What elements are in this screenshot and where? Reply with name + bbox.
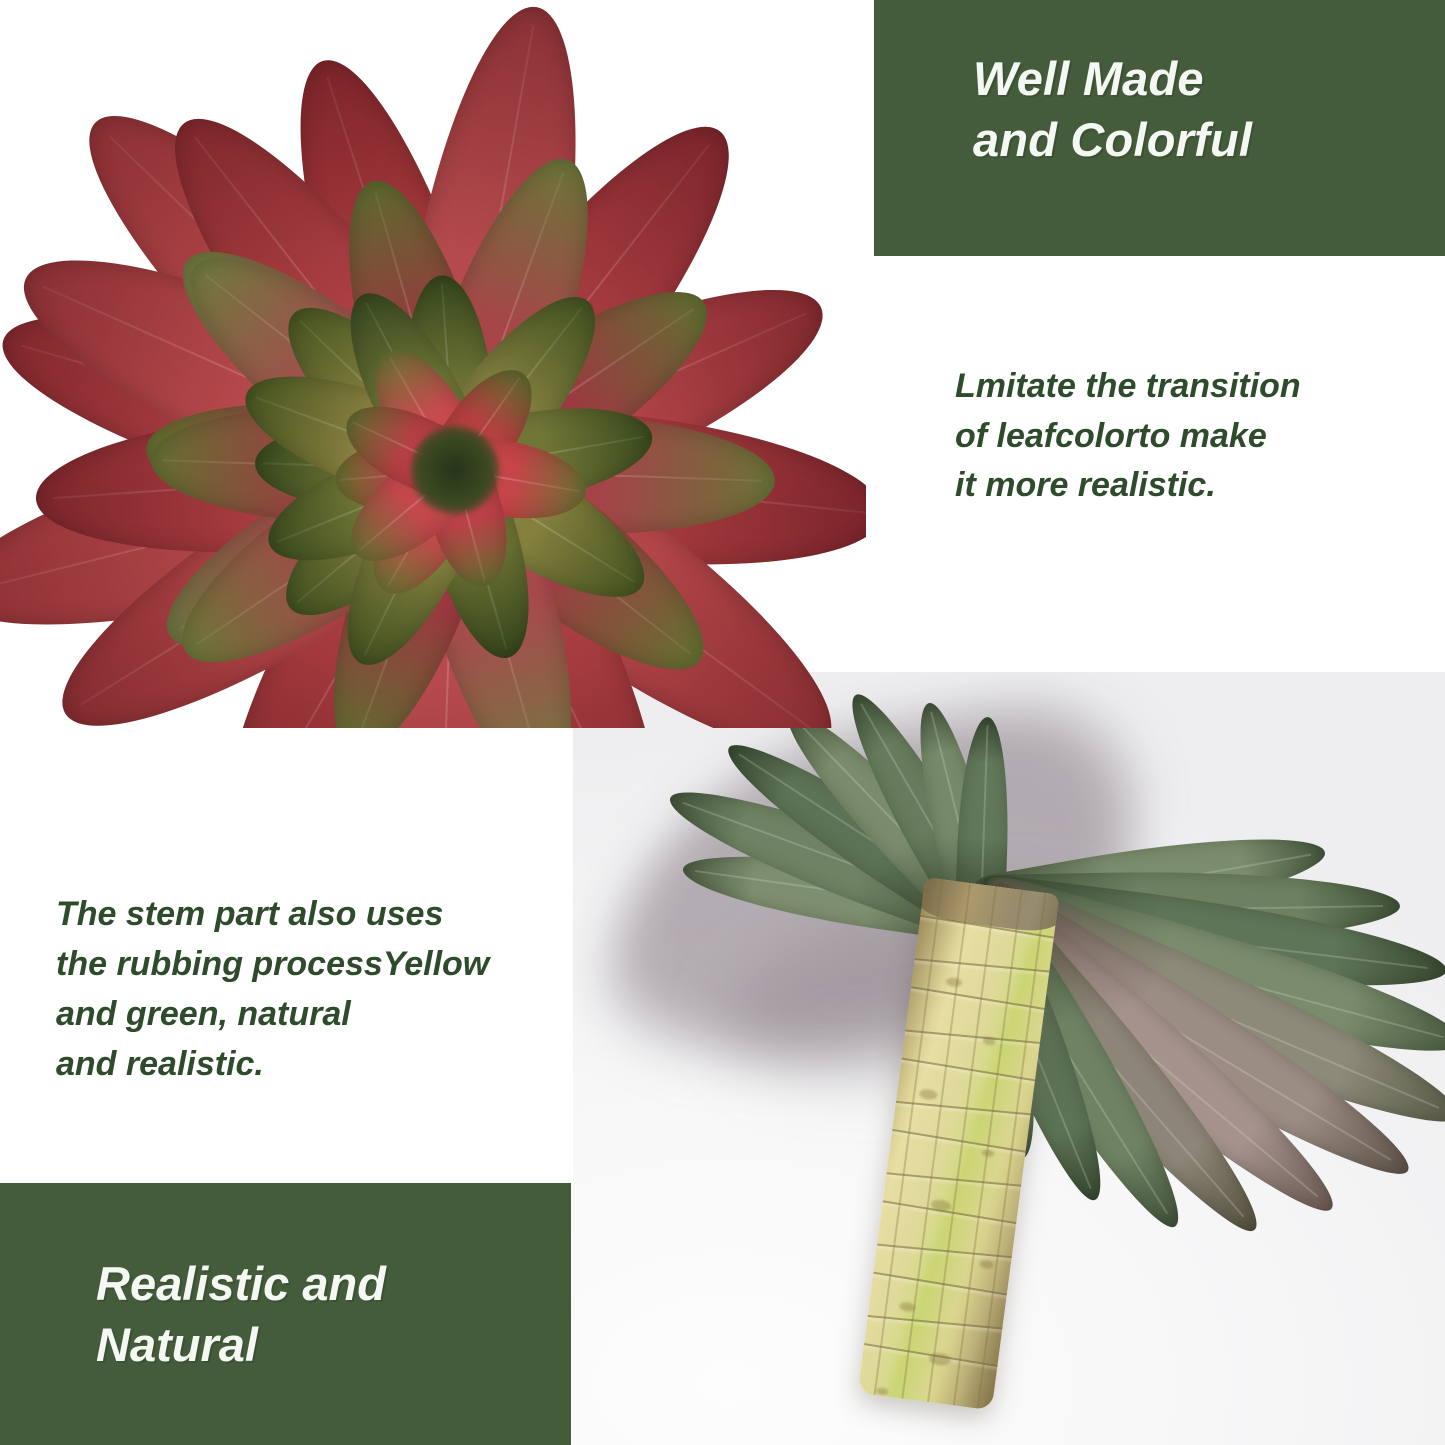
feature-left-line-4: and realistic. [56,1040,576,1090]
feature-text-right: Lmitate the transition of leafcolorto ma… [955,362,1425,511]
header-title: Well Made and Colorful [973,48,1433,170]
footer-title-line-2: Natural [96,1314,556,1375]
photo-bottom-right-stem [573,672,1445,1445]
feature-right-line-2: of leafcolorto make [955,412,1425,462]
rosette-center [411,426,499,514]
footer-green-panel: Realistic and Natural [0,1183,571,1445]
feature-left-line-1: The stem part also uses [56,890,576,940]
photo-top-left-rosette [0,0,866,728]
header-green-panel: Well Made and Colorful [874,0,1445,256]
feature-right-line-1: Lmitate the transition [955,362,1425,412]
feature-text-left: The stem part also uses the rubbing proc… [56,890,576,1090]
infographic-canvas: Well Made and Colorful Lmitate the trans… [0,0,1445,1445]
footer-title: Realistic and Natural [96,1253,556,1375]
rosette-illustration [0,0,866,728]
feature-left-line-3: and green, natural [56,990,576,1040]
header-title-line-1: Well Made [973,48,1433,109]
feature-left-line-2: the rubbing processYellow [56,940,576,990]
feature-right-line-3: it more realistic. [955,461,1425,511]
header-title-line-2: and Colorful [973,109,1433,170]
footer-title-line-1: Realistic and [96,1253,556,1314]
